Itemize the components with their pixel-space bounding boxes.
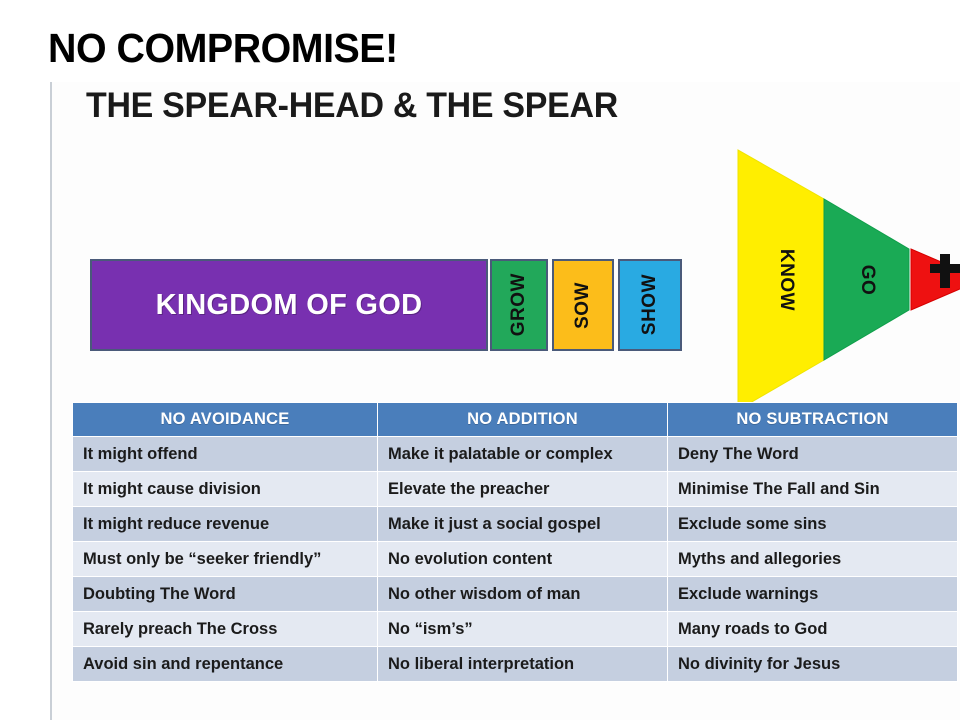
spear-shaft-kingdom-of-god: KINGDOM OF GOD (90, 259, 488, 351)
table-row: It might cause division Elevate the prea… (73, 472, 958, 507)
spear-diagram: KINGDOM OF GOD GROW SOW SHOW KNOW GO (52, 142, 960, 417)
table-cell: It might reduce revenue (73, 507, 378, 542)
spear-head-label-go: GO (857, 265, 878, 296)
comparison-table: NO AVOIDANCE NO ADDITION NO SUBTRACTION … (72, 402, 958, 682)
table-header-row: NO AVOIDANCE NO ADDITION NO SUBTRACTION (73, 403, 958, 437)
spear-head: KNOW GO (682, 142, 960, 417)
spear-head-wedge-cross (911, 249, 960, 310)
spear-segment-show: SHOW (618, 259, 682, 351)
table-row: Avoid sin and repentance No liberal inte… (73, 647, 958, 682)
diagram-card: THE SPEAR-HEAD & THE SPEAR KINGDOM OF GO… (50, 82, 960, 720)
table-cell: Myths and allegories (668, 542, 958, 577)
table-cell: Elevate the preacher (378, 472, 668, 507)
table-row: Doubting The Word No other wisdom of man… (73, 577, 958, 612)
table-cell: Make it palatable or complex (378, 437, 668, 472)
table-cell: No liberal interpretation (378, 647, 668, 682)
segment-label-show: SHOW (639, 274, 661, 335)
table-cell: Deny The Word (668, 437, 958, 472)
spear-segment-grow: GROW (490, 259, 548, 351)
table-row: Must only be “seeker friendly” No evolut… (73, 542, 958, 577)
table-cell: Avoid sin and repentance (73, 647, 378, 682)
table-cell: Minimise The Fall and Sin (668, 472, 958, 507)
spear-head-label-know: KNOW (776, 249, 797, 311)
table-cell: Many roads to God (668, 612, 958, 647)
page-title: NO COMPROMISE! (48, 28, 398, 69)
diagram-heading: THE SPEAR-HEAD & THE SPEAR (86, 86, 618, 126)
table-row: It might reduce revenue Make it just a s… (73, 507, 958, 542)
table-cell: Doubting The Word (73, 577, 378, 612)
table-cell: Rarely preach The Cross (73, 612, 378, 647)
column-header-no-addition: NO ADDITION (378, 403, 668, 437)
table-cell: Must only be “seeker friendly” (73, 542, 378, 577)
column-header-no-avoidance: NO AVOIDANCE (73, 403, 378, 437)
kingdom-of-god-label: KINGDOM OF GOD (156, 289, 423, 322)
spear-segment-sow: SOW (552, 259, 614, 351)
table-cell: It might offend (73, 437, 378, 472)
comparison-table-wrapper: NO AVOIDANCE NO ADDITION NO SUBTRACTION … (72, 402, 957, 682)
table-cell: Exclude warnings (668, 577, 958, 612)
table-cell: No divinity for Jesus (668, 647, 958, 682)
table-row: Rarely preach The Cross No “ism’s” Many … (73, 612, 958, 647)
table-cell: No evolution content (378, 542, 668, 577)
table-cell: Make it just a social gospel (378, 507, 668, 542)
table-cell: No “ism’s” (378, 612, 668, 647)
column-header-no-subtraction: NO SUBTRACTION (668, 403, 958, 437)
table-cell: It might cause division (73, 472, 378, 507)
segment-label-sow: SOW (572, 282, 594, 329)
table-body: It might offend Make it palatable or com… (73, 437, 958, 682)
table-cell: No other wisdom of man (378, 577, 668, 612)
segment-label-grow: GROW (508, 273, 530, 336)
table-row: It might offend Make it palatable or com… (73, 437, 958, 472)
table-cell: Exclude some sins (668, 507, 958, 542)
